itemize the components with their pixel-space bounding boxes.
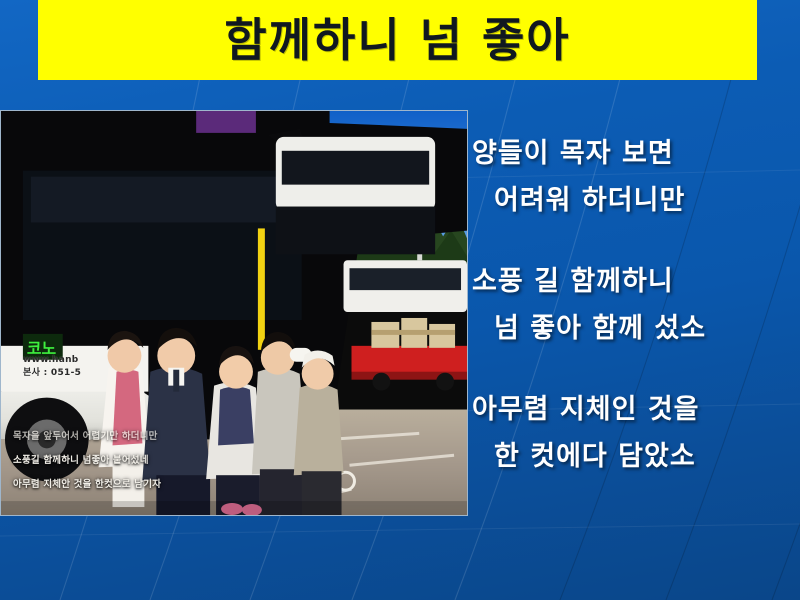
lyrics-panel: 양들이 목자 보면 어려워 하더니만 소풍 길 함께하니 넘 좋아 함께 섰소 … [472, 130, 794, 530]
slide-photo[interactable]: 코노 [0, 110, 468, 516]
lyrics-stanza-2: 소풍 길 함께하니 넘 좋아 함께 섰소 [472, 258, 794, 352]
lyrics-line-1-2: 어려워 하더니만 [472, 177, 794, 224]
lyrics-line-3-2: 한 컷에다 담았소 [472, 433, 794, 480]
photo-caption-line-3: 아무렴 지체안 것을 한컷으로 남기자 [13, 473, 273, 497]
presentation-slide: 함께하니 넘 좋아 [0, 0, 800, 600]
page-title: 함께하니 넘 좋아 [224, 17, 570, 63]
lyrics-stanza-3: 아무렴 지체인 것을 한 컷에다 담았소 [472, 386, 794, 480]
lyrics-line-1-1: 양들이 목자 보면 [472, 130, 794, 177]
lyrics-line-2-1: 소풍 길 함께하니 [472, 258, 794, 305]
slide-title-banner: 함께하니 넘 좋아 [38, 0, 757, 80]
photo-caption: 목자을 앞두어서 어렵기만 하더니만 소풍길 함께하니 넘좋아 붙어섰네 아무렴… [13, 425, 273, 497]
lyrics-line-2-2: 넘 좋아 함께 섰소 [472, 305, 794, 352]
photo-caption-line-2: 소풍길 함께하니 넘좋아 붙어섰네 [13, 449, 273, 473]
bus-contact-text: www.hanb 본사 : 051-5 [23, 354, 81, 380]
bus-website-text: www.hanb [23, 354, 81, 367]
bus-phone-text: 본사 : 051-5 [23, 367, 81, 380]
lyrics-line-3-1: 아무렴 지체인 것을 [472, 386, 794, 433]
lyrics-stanza-1: 양들이 목자 보면 어려워 하더니만 [472, 130, 794, 224]
photo-caption-line-1: 목자을 앞두어서 어렵기만 하더니만 [13, 425, 273, 449]
